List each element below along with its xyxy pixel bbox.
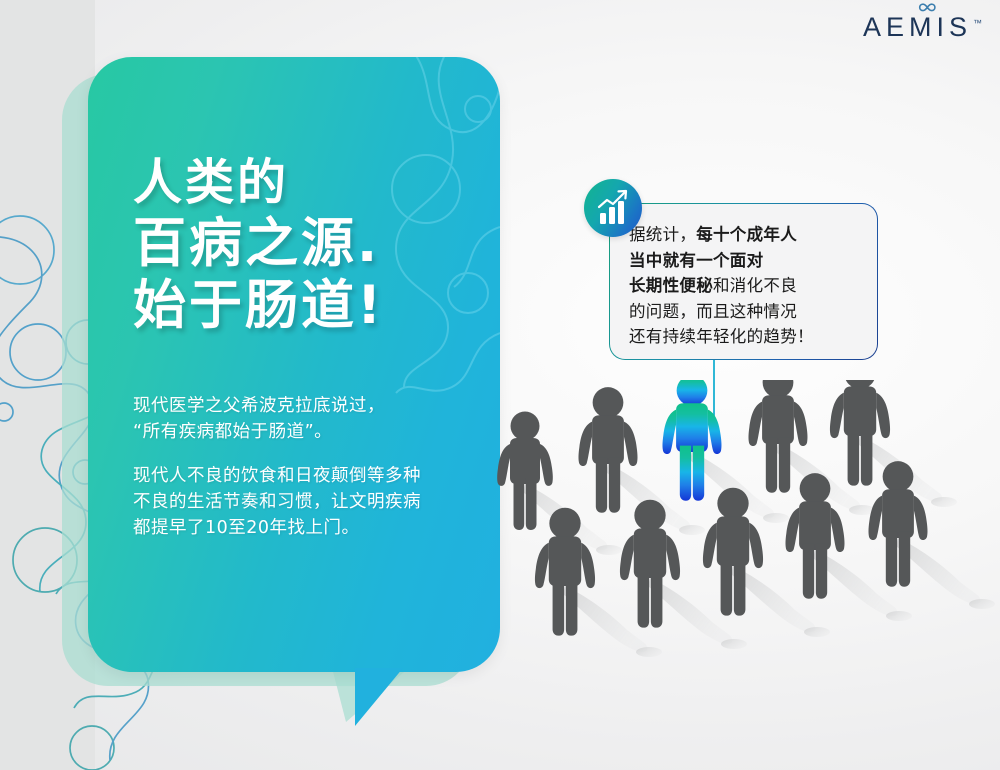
speech-bubble-tail [355, 668, 403, 726]
headline-line-2: 百病之源. [133, 216, 493, 272]
hero-paragraph-1: 现代医学之父希波克拉底说过， “所有疾病都始于肠道”。 [133, 393, 503, 445]
hero-speech-bubble [88, 57, 500, 672]
brand-logo: AEMIS ™ [863, 14, 982, 41]
statistic-callout-text: 据统计，每十个成年人 当中就有一个面对 长期性便秘和消化不良 的问题，而且这种情… [629, 222, 879, 350]
crowd-illustration [490, 380, 1000, 770]
headline-line-1: 人类的 [133, 158, 493, 208]
hero-paragraph-2: 现代人不良的饮食和日夜颠倒等多种 不良的生活节奏和习惯，让文明疾病 都提早了10… [133, 463, 503, 541]
infinity-mark-icon [916, 1, 942, 14]
crowd-highlighted-figure [663, 380, 722, 501]
brand-name: AEMIS [863, 12, 972, 42]
brand-trademark: ™ [973, 18, 982, 28]
page-title: 人类的 百病之源. 始于肠道! [133, 158, 493, 334]
bar-chart-growth-icon [584, 179, 642, 237]
bubble-decorative-pattern [300, 57, 500, 672]
bar-chart-growth-glyph [584, 179, 642, 237]
infographic-canvas: AEMIS ™ 人类的 百病之源. 始于肠道! 现代医学之父希波克拉底说过， “… [0, 0, 1000, 770]
headline-line-3: 始于肠道! [133, 278, 493, 334]
